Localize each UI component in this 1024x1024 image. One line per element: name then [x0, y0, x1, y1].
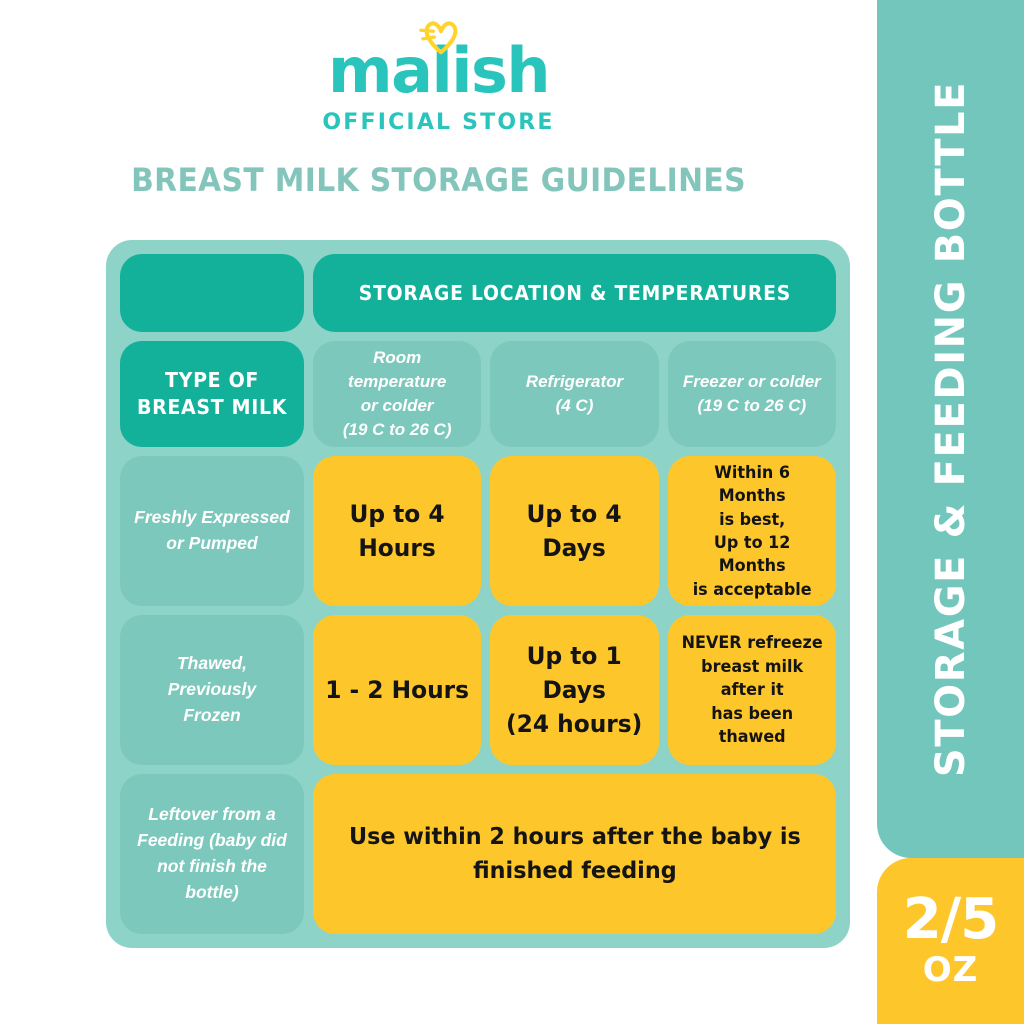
- table-row: Freshly Expressed or Pumped Up to 4 Hour…: [120, 456, 836, 606]
- column-header-label: Refrigerator (4 C): [526, 370, 623, 418]
- data-cell: Up to 4 Days: [490, 456, 658, 606]
- page-title: BREAST MILK STORAGE GUIDELINES: [31, 161, 847, 199]
- oz-badge: 2/5 OZ: [877, 858, 1024, 1024]
- table-row: Leftover from a Feeding (baby did not fi…: [120, 774, 836, 934]
- type-of-breast-milk-label: TYPE OF BREAST MILK: [137, 367, 287, 421]
- header: malish OFFICIAL STORE BREAST MILK STORAG…: [0, 0, 877, 199]
- row-header-label: Leftover from a Feeding (baby did not fi…: [137, 802, 287, 906]
- oz-badge-value: 2/5: [903, 891, 998, 948]
- column-header-refrigerator: Refrigerator (4 C): [490, 341, 658, 447]
- data-cell: Up to 1 Days (24 hours): [490, 615, 658, 765]
- brand-subtitle: OFFICIAL STORE: [322, 110, 554, 135]
- data-cell-spanning: Use within 2 hours after the baby is fin…: [313, 774, 836, 934]
- storage-guidelines-table: STORAGE LOCATION & TEMPERATURES TYPE OF …: [106, 240, 850, 948]
- data-cell-value: Up to 4 Days: [527, 497, 622, 565]
- type-of-breast-milk-cell: TYPE OF BREAST MILK: [120, 341, 304, 447]
- corner-cell: [120, 254, 304, 332]
- row-header-label: Thawed, Previously Frozen: [168, 651, 257, 729]
- infographic-root: STORAGE & FEEDING BOTTLE 2/5 OZ malish O…: [0, 0, 1024, 1024]
- data-cell-value: Up to 1 Days (24 hours): [503, 639, 647, 741]
- butterfly-heart-icon: [418, 14, 464, 60]
- table-row-column-headers: TYPE OF BREAST MILK Room temperature or …: [120, 341, 836, 447]
- data-cell: Within 6 Months is best, Up to 12 Months…: [668, 456, 836, 606]
- column-header-label: Room temperature or colder (19 C to 26 C…: [323, 346, 471, 441]
- row-header-thawed-previously-frozen: Thawed, Previously Frozen: [120, 615, 304, 765]
- row-header-leftover-from-feeding: Leftover from a Feeding (baby did not fi…: [120, 774, 304, 934]
- column-header-freezer: Freezer or colder (19 C to 26 C): [668, 341, 836, 447]
- oz-badge-unit: OZ: [923, 950, 979, 991]
- data-cell-value: NEVER refreeze breast milk after it has …: [680, 631, 824, 748]
- group-header-label: STORAGE LOCATION & TEMPERATURES: [358, 281, 790, 305]
- row-header-label: Freshly Expressed or Pumped: [134, 505, 290, 557]
- column-header-label: Freezer or colder (19 C to 26 C): [683, 370, 821, 418]
- group-header-cell: STORAGE LOCATION & TEMPERATURES: [313, 254, 836, 332]
- table-row-group-header: STORAGE LOCATION & TEMPERATURES: [120, 254, 836, 332]
- data-cell-value: Up to 4 Hours: [350, 497, 445, 565]
- data-cell: NEVER refreeze breast milk after it has …: [668, 615, 836, 765]
- data-cell: 1 - 2 Hours: [313, 615, 481, 765]
- data-cell-value: Within 6 Months is best, Up to 12 Months…: [680, 461, 824, 602]
- brand-logo: malish OFFICIAL STORE: [322, 40, 554, 135]
- side-banner: STORAGE & FEEDING BOTTLE: [877, 0, 1024, 858]
- side-banner-label: STORAGE & FEEDING BOTTLE: [931, 81, 971, 777]
- column-header-room-temperature: Room temperature or colder (19 C to 26 C…: [313, 341, 481, 447]
- row-header-freshly-expressed: Freshly Expressed or Pumped: [120, 456, 304, 606]
- data-cell-value: Use within 2 hours after the baby is fin…: [349, 820, 801, 889]
- data-cell-value: 1 - 2 Hours: [325, 673, 469, 707]
- table-row: Thawed, Previously Frozen 1 - 2 Hours Up…: [120, 615, 836, 765]
- data-cell: Up to 4 Hours: [313, 456, 481, 606]
